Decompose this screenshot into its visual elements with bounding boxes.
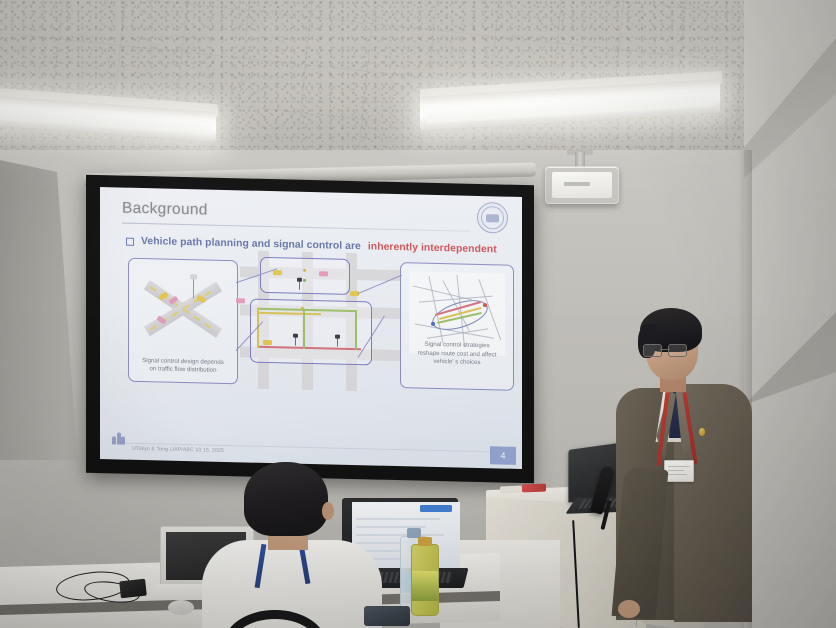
lens-right xyxy=(668,344,687,357)
projector-body xyxy=(545,166,619,204)
tea-bottle xyxy=(411,544,439,616)
podium-red-marker xyxy=(522,484,546,493)
vehicle-icon xyxy=(273,270,282,275)
slide-page-number: 4 xyxy=(490,446,516,465)
projector-label xyxy=(564,182,590,186)
lens-left xyxy=(643,344,662,357)
map-destination-marker xyxy=(483,303,487,307)
intersection-panel: Signal control design depends on traffic… xyxy=(128,258,238,385)
intersection-panel-caption: Signal control design depends on traffic… xyxy=(134,356,232,375)
route-green xyxy=(257,308,357,312)
vehicle-icon xyxy=(319,271,328,276)
projection-screen: Background Vehicle path planning and sig… xyxy=(86,176,538,482)
lapel-pin xyxy=(699,428,705,436)
route-yellow xyxy=(257,312,321,315)
caption-line: reshape route cost and affect xyxy=(418,349,497,358)
caption-line: on traffic flow distribution xyxy=(150,365,217,374)
university-seal-icon xyxy=(477,202,508,234)
title-underline xyxy=(122,223,470,232)
route-green-vertical xyxy=(355,310,357,350)
presenter-at-podium xyxy=(612,300,772,628)
name-badge xyxy=(664,460,694,482)
bullet-square-icon xyxy=(126,237,134,245)
seated-attendee xyxy=(196,462,402,628)
vehicle-icon xyxy=(236,298,245,303)
screen-frame: Background Vehicle path planning and sig… xyxy=(86,175,534,484)
hair xyxy=(244,462,328,536)
traffic-light-icon xyxy=(193,278,194,298)
footer-logo-icon xyxy=(112,432,125,447)
network-map-panel: Signal control strategies reshape route … xyxy=(400,262,514,391)
traffic-light-icon xyxy=(337,338,338,347)
smartphone xyxy=(364,606,410,626)
network-map-panel-caption: Signal control strategies reshape route … xyxy=(406,341,508,368)
slide-title: Background xyxy=(122,200,208,220)
footer-text: UTokyo & Tong LIAP/ABC 10.15, 2025 xyxy=(132,446,224,454)
screen-canvas: Background Vehicle path planning and sig… xyxy=(100,187,522,469)
glasses-bridge xyxy=(660,349,670,350)
map-road xyxy=(427,328,488,338)
ceiling-projector xyxy=(545,152,617,202)
signal-indicator xyxy=(303,269,306,272)
caption-line: Signal control strategies xyxy=(424,341,489,350)
traffic-light-icon xyxy=(299,281,300,290)
caption-line: vehicle' s choices xyxy=(433,358,480,366)
bottle-label xyxy=(412,571,438,601)
presenter-hand xyxy=(618,600,640,618)
presentation-photo-scene: Background Vehicle path planning and sig… xyxy=(0,0,836,628)
podium-control-panel xyxy=(500,486,522,494)
x-intersection-diagram xyxy=(143,271,223,347)
bottle-cap xyxy=(418,537,432,546)
vehicle-icon xyxy=(263,340,272,345)
zoom-box-bottom xyxy=(250,299,372,366)
eyeglasses-icon xyxy=(643,344,687,355)
map-origin-marker xyxy=(431,322,435,326)
zoom-box-top xyxy=(260,257,350,295)
ear xyxy=(322,502,334,520)
route-green-vertical xyxy=(303,309,305,349)
computer-mouse xyxy=(168,600,194,615)
slide-content: Background Vehicle path planning and sig… xyxy=(100,187,522,469)
traffic-light-icon xyxy=(295,337,296,346)
screen-active-tab xyxy=(420,505,452,512)
power-adapter xyxy=(119,579,147,599)
route-red xyxy=(257,346,361,350)
signal-indicator xyxy=(303,279,306,282)
